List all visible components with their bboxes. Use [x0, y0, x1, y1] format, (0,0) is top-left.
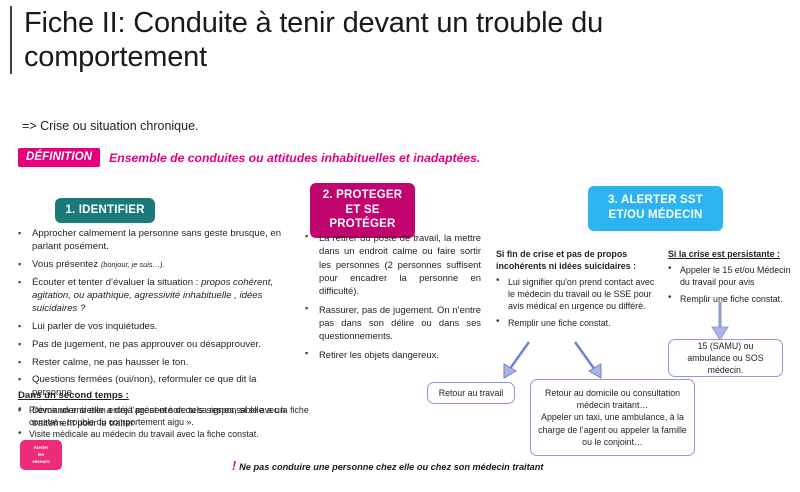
slide-root: Fiche II: Conduite à tenir devant un tro…: [0, 0, 800, 492]
section-header-identifier: 1. IDENTIFIER: [55, 198, 155, 223]
list-item: Approcher calmement la personne sans ges…: [18, 228, 290, 254]
proteger-header-line-1: 2. PROTEGER: [310, 188, 415, 203]
alerter-header-line-1: 3. ALERTER SST: [588, 193, 723, 208]
outcome-box-samu[interactable]: 15 (SAMU) ou ambulance ou SOS médecin.: [668, 339, 783, 377]
list-item: Lui signifier qu'on prend contact avec l…: [496, 276, 656, 312]
list-item: Visite médicale au médecin du travail av…: [18, 429, 323, 440]
arrow-down-to-samu: [700, 300, 740, 342]
persistent-crisis-heading: Si la crise est persistante :: [668, 248, 793, 260]
arrow-diagonal-right: [565, 338, 611, 384]
persistent-crisis-list: Appeler le 15 et/ou Médecin du travail p…: [668, 264, 793, 305]
alerter-end-of-crisis: Si fin de crise et pas de propos incohér…: [496, 248, 656, 334]
outcome-box-return-home[interactable]: Retour au domicile ou consultation médec…: [530, 379, 695, 456]
section-header-alerter: 3. ALERTER SST ET/OU MÉDECIN: [588, 186, 723, 231]
second-step-heading: Dans un second temps :: [18, 390, 323, 402]
subtitle-text: => Crise ou situation chronique.: [22, 119, 199, 133]
list-item: Lui parler de vos inquiétudes.: [18, 321, 290, 334]
outcome-box-return-to-work[interactable]: Retour au travail: [427, 382, 515, 404]
list-item: La retirer du poste de travail, la mettr…: [305, 231, 481, 298]
warning-note: !Ne pas conduire une personne chez elle …: [232, 459, 543, 473]
second-step-list: Prévoir un entretien entre l’agent et so…: [18, 405, 323, 440]
definition-text: Ensemble de conduites ou attitudes inhab…: [109, 151, 480, 165]
arrow-diagonal-left: [495, 338, 541, 384]
title-accent-bar: [10, 6, 12, 74]
list-item: Remplir une fiche constat.: [496, 317, 656, 329]
definition-row: DÉFINITION Ensemble de conduites ou atti…: [18, 148, 480, 167]
list-item: Retirer les objets dangereux.: [305, 348, 481, 361]
bullet-text: Vous présentez: [32, 259, 101, 270]
list-item: Vous présentez (bonjour, je suis…).: [18, 259, 290, 272]
list-item: Appeler le 15 et/ou Médecin du travail p…: [668, 264, 793, 288]
proteger-bullet-list: La retirer du poste de travail, la mettr…: [305, 231, 481, 361]
list-item: Prévoir un entretien entre l’agent et so…: [18, 405, 323, 428]
outcome-home-text: Retour au domicile ou consultation médec…: [537, 387, 688, 449]
definition-badge: DÉFINITION: [18, 148, 100, 167]
secours-line-2: les: [20, 451, 62, 458]
secours-line-1: Alerter: [20, 444, 62, 451]
page-title: Fiche II: Conduite à tenir devant un tro…: [10, 6, 770, 74]
proteger-header-line-3: PROTÉGER: [310, 217, 415, 232]
list-item: Pas de jugement, ne pas approuver ou dés…: [18, 339, 290, 352]
bullet-text: Approcher calmement la personne sans ges…: [32, 228, 281, 252]
alerter-header-line-2: ET/OU MÉDECIN: [588, 208, 723, 223]
warning-icon: !: [232, 459, 236, 473]
bullet-text: Pas de jugement, ne pas approuver ou dés…: [32, 339, 261, 350]
title-text: Fiche II: Conduite à tenir devant un tro…: [24, 6, 770, 74]
end-of-crisis-list: Lui signifier qu'on prend contact avec l…: [496, 276, 656, 329]
section-header-proteger: 2. PROTEGER ET SE PROTÉGER: [310, 183, 415, 238]
list-item: Écouter et tenter d’évaluer la situation…: [18, 277, 290, 316]
bullet-text: Écouter et tenter d’évaluer la situation…: [32, 277, 201, 288]
list-item: Rassurer, pas de jugement. On n’entre pa…: [305, 303, 481, 343]
alerter-secours-badge[interactable]: Alerter les secours: [20, 440, 62, 470]
bullet-text: Lui parler de vos inquiétudes.: [32, 321, 157, 332]
proteger-content: La retirer du poste de travail, la mettr…: [305, 231, 481, 366]
list-item: Rester calme, ne pas hausser le ton.: [18, 357, 290, 370]
bullet-text: Rester calme, ne pas hausser le ton.: [32, 357, 188, 368]
proteger-header-line-2: ET SE: [310, 203, 415, 218]
warning-text: Ne pas conduire une personne chez elle o…: [239, 462, 543, 472]
end-of-crisis-heading: Si fin de crise et pas de propos incohér…: [496, 248, 656, 272]
bullet-note: (bonjour, je suis…).: [101, 260, 165, 269]
second-step-section: Dans un second temps : Prévoir un entret…: [18, 390, 323, 442]
secours-line-3: secours: [20, 458, 62, 465]
